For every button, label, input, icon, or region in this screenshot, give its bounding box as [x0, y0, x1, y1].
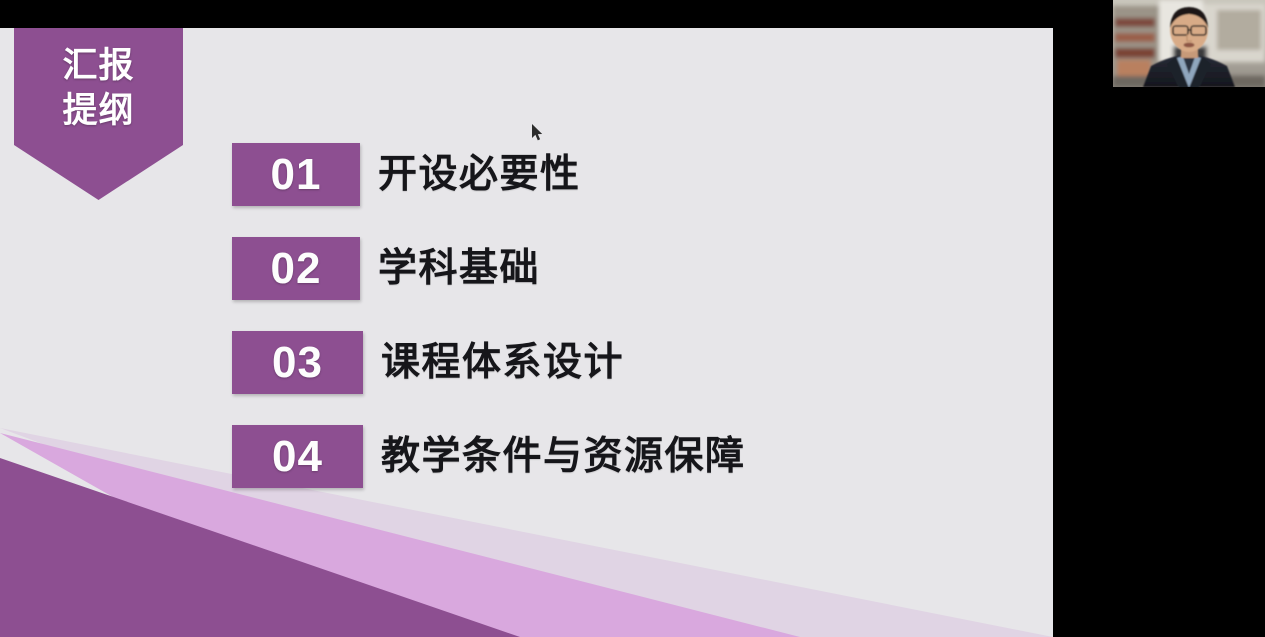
- banner-ribbon: 汇报 提纲: [14, 28, 183, 200]
- presenter-video-tile[interactable]: [1113, 0, 1265, 87]
- outline-item-01[interactable]: 01 开设必要性: [232, 143, 992, 206]
- banner-title: 汇报 提纲: [14, 44, 183, 134]
- outline-list: 01 开设必要性 02 学科基础 03 课程体系设计 04: [232, 143, 992, 519]
- outline-item-03[interactable]: 03 课程体系设计: [232, 331, 992, 394]
- outline-number-01: 01: [271, 153, 322, 197]
- banner-title-line-2: 提纲: [14, 89, 183, 134]
- screen-capture: 汇报 提纲 01 开设必要性 02 学科基础 03: [0, 0, 1265, 637]
- outline-number-badge-01: 01: [232, 143, 360, 206]
- outline-item-04[interactable]: 04 教学条件与资源保障: [232, 425, 992, 488]
- outline-label-01: 开设必要性: [378, 155, 581, 194]
- outline-label-04: 教学条件与资源保障: [381, 437, 746, 476]
- outline-item-02[interactable]: 02 学科基础: [232, 237, 992, 300]
- banner-title-line-1: 汇报: [14, 44, 183, 89]
- outline-number-badge-04: 04: [232, 425, 363, 488]
- outline-number-02: 02: [271, 247, 322, 291]
- outline-number-04: 04: [272, 435, 323, 479]
- presenter-webcam-image: [1113, 0, 1265, 87]
- presentation-slide: 汇报 提纲 01 开设必要性 02 学科基础 03: [0, 28, 1053, 637]
- outline-number-badge-02: 02: [232, 237, 360, 300]
- outline-label-03: 课程体系设计: [381, 343, 624, 382]
- outline-number-badge-03: 03: [232, 331, 363, 394]
- outline-number-03: 03: [272, 341, 323, 385]
- outline-label-02: 学科基础: [378, 249, 540, 288]
